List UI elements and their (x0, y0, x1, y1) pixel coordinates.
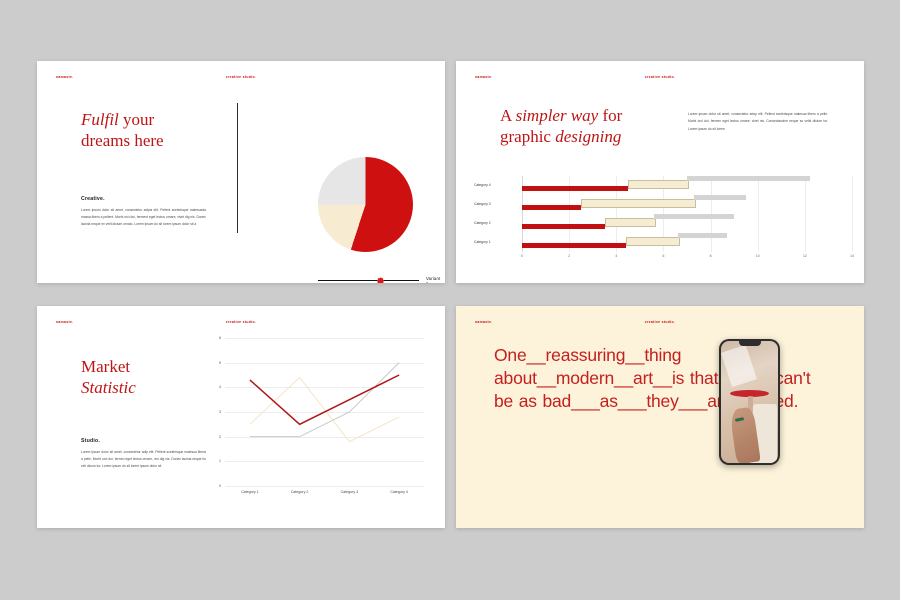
line-chart-x-label: Category 2 (291, 490, 309, 494)
bar-chart-category-label: Category 2 (474, 221, 520, 225)
slide-2[interactable]: namaste. creative studio. A simpler way … (456, 61, 864, 283)
bar-segment (605, 218, 657, 227)
brand-logo: namaste. (475, 75, 493, 79)
line-chart-x-label: Category 3 (341, 490, 359, 494)
slide-2-header: namaste. creative studio. (456, 75, 864, 83)
line-chart-y-label: 3 (209, 410, 221, 414)
bar-chart-tick-label: 14 (850, 254, 854, 258)
title-line2-a: graphic (500, 127, 555, 146)
bar-segment (694, 195, 746, 200)
bar-segment (522, 243, 626, 248)
slide-4[interactable]: namaste. creative studio. One__reassurin… (456, 306, 864, 528)
title-line2-italic: designing (555, 127, 621, 146)
slide-2-body-text: Lorem ipsum dolor sit amet, consectetur … (688, 111, 828, 133)
header-tagline: creative studio. (645, 320, 675, 324)
header-tagline: creative studio. (645, 75, 675, 79)
slide-deck-preview: namaste. creative studio. Fulfil your dr… (0, 0, 900, 600)
bar-segment (581, 199, 696, 208)
bar-chart-category-label: Category 4 (474, 183, 520, 187)
bar-chart-category-label: Category 3 (474, 202, 520, 206)
line-chart-x-label: Category 4 (390, 490, 408, 494)
bar-chart-row (522, 233, 852, 252)
slide-2-title: A simpler way for graphic designing (500, 105, 675, 148)
title-word-a: A (500, 106, 516, 125)
line-chart-series-group (225, 338, 424, 486)
line-chart-gridline (225, 486, 424, 487)
bar-chart-tick-label: 0 (521, 254, 523, 258)
bar-chart-tick-label: 8 (710, 254, 712, 258)
brand-logo: namaste. (56, 75, 74, 79)
slide-4-quote: One__reassuring__thing about__modern__ar… (494, 344, 832, 413)
slide-1-header: namaste. creative studio. (37, 75, 445, 83)
line-chart-y-axis: 0123456 (209, 338, 223, 486)
slide-1-title: Fulfil your dreams here (81, 109, 231, 152)
slide-3-header: namaste. creative studio. (37, 320, 445, 328)
bar-chart-row (522, 214, 852, 233)
bar-chart-row (522, 195, 852, 214)
slide-1-body-text: Lorem ipsum dolor sit amet, consectetur … (81, 207, 206, 228)
bar-chart-category-labels: Category 4Category 3Category 2Category 1 (474, 176, 520, 252)
line-chart-y-label: 1 (209, 459, 221, 463)
bar-chart-row (522, 176, 852, 195)
slide-4-header: namaste. creative studio. (456, 320, 864, 328)
bar-segment (522, 224, 605, 229)
brand-logo: namaste. (475, 320, 493, 324)
title-line-1: Market (81, 357, 130, 376)
phone-notch (739, 341, 761, 346)
phone-screen-image (721, 341, 778, 463)
header-tagline: creative studio. (226, 320, 256, 324)
bar-segment (628, 180, 689, 189)
bar-chart-category-label: Category 1 (474, 240, 520, 244)
line-chart-y-label: 4 (209, 385, 221, 389)
slide-3-body-text: Lorem ipsum dolor sit amet, consectetur … (81, 449, 206, 470)
slide-1[interactable]: namaste. creative studio. Fulfil your dr… (37, 61, 445, 283)
bar-chart-plot (522, 176, 852, 252)
bar-chart-tick-label: 6 (662, 254, 664, 258)
brand-logo: namaste. (56, 320, 74, 324)
line-chart-plot: Category 1Category 2Category 3Category 4 (225, 338, 424, 486)
slide-1-subheading: Creative. (81, 196, 105, 202)
title-line-2: Statistic (81, 378, 136, 397)
phone-mockup (719, 339, 780, 465)
line-chart-x-label: Category 1 (241, 490, 259, 494)
line-chart-y-label: 6 (209, 336, 221, 340)
title-word-italic: simpler way (516, 106, 599, 125)
vertical-divider (237, 103, 238, 233)
line-chart-y-label: 5 (209, 361, 221, 365)
title-word-italic: Fulfil (81, 110, 119, 129)
line-series-cream (250, 377, 399, 441)
bar-segment (687, 176, 810, 181)
pie-chart (318, 157, 413, 252)
bar-chart-tick-label: 4 (615, 254, 617, 258)
bar-chart-tick-label: 2 (568, 254, 570, 258)
bar-chart-gridline (852, 176, 853, 252)
photo-highlight (721, 345, 757, 388)
bar-segment (522, 186, 628, 191)
stacked-bar-chart: Category 4Category 3Category 2Category 1… (474, 176, 852, 268)
title-line-2: dreams here (81, 131, 164, 150)
bar-chart-tick-label: 10 (756, 254, 760, 258)
line-series-red (250, 375, 399, 424)
slide-3[interactable]: namaste. creative studio. Market Statist… (37, 306, 445, 528)
bar-segment (522, 205, 581, 210)
line-chart-y-label: 2 (209, 435, 221, 439)
slider-track[interactable] (318, 280, 419, 281)
title-word-b: for (598, 106, 622, 125)
bar-chart-x-ticks: 02468101214 (522, 254, 852, 262)
header-tagline: creative studio. (226, 75, 256, 79)
slider-thumb[interactable] (377, 277, 384, 283)
slide-3-title: Market Statistic (81, 356, 221, 399)
bar-segment (654, 214, 734, 219)
bar-segment (626, 237, 680, 246)
line-chart: 0123456 Category 1Category 2Category 3Ca… (209, 338, 424, 508)
slider-label: Variant 1 (426, 276, 440, 283)
title-word-rest: your (119, 110, 154, 129)
line-chart-y-label: 0 (209, 484, 221, 488)
bar-segment (678, 233, 728, 238)
bar-chart-tick-label: 12 (803, 254, 807, 258)
slide-3-subheading: Studio. (81, 438, 100, 444)
